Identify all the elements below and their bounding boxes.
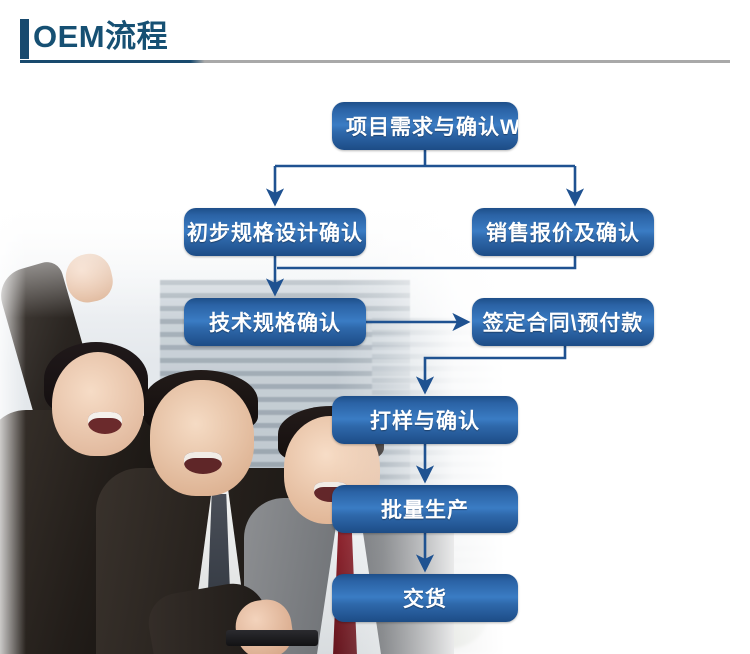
flow-node-sales-quotation[interactable]: 销售报价及确认 bbox=[472, 208, 654, 256]
title-underline bbox=[20, 60, 730, 63]
page-header: OEM流程 bbox=[0, 0, 750, 72]
connector-contract-to-sample bbox=[425, 346, 565, 390]
flow-node-label: 销售报价及确认 bbox=[486, 217, 640, 247]
flow-node-label: 打样与确认 bbox=[370, 405, 480, 435]
flow-node-project-requirement[interactable]: 项目需求与确认WW bbox=[332, 102, 518, 150]
flow-node-label: 签定合同\预付款 bbox=[483, 307, 644, 337]
flow-node-label: 批量生产 bbox=[381, 494, 469, 524]
flow-node-mass-production[interactable]: 批量生产 bbox=[332, 485, 518, 533]
flow-node-label: 交货 bbox=[403, 583, 447, 613]
oem-flow-chart: 项目需求与确认WW 初步规格设计确认 销售报价及确认 技术规格确认 签定合同\预… bbox=[0, 0, 750, 654]
flow-node-preliminary-spec-design[interactable]: 初步规格设计确认 bbox=[184, 208, 366, 256]
oem-process-page: OEM流程 bbox=[0, 0, 750, 654]
flow-node-label: 初步规格设计确认 bbox=[187, 217, 363, 247]
flow-node-label: 技术规格确认 bbox=[209, 307, 341, 337]
flow-node-label: 项目需求与确认WW bbox=[346, 111, 518, 141]
page-title: OEM流程 bbox=[33, 17, 168, 57]
flow-node-contract-prepayment[interactable]: 签定合同\预付款 bbox=[472, 298, 654, 346]
title-accent-bar bbox=[20, 19, 29, 59]
flow-node-sampling-confirm[interactable]: 打样与确认 bbox=[332, 396, 518, 444]
flow-node-delivery[interactable]: 交货 bbox=[332, 574, 518, 622]
connector-quote-to-tech bbox=[277, 256, 575, 268]
flow-node-technical-spec-confirm[interactable]: 技术规格确认 bbox=[184, 298, 366, 346]
